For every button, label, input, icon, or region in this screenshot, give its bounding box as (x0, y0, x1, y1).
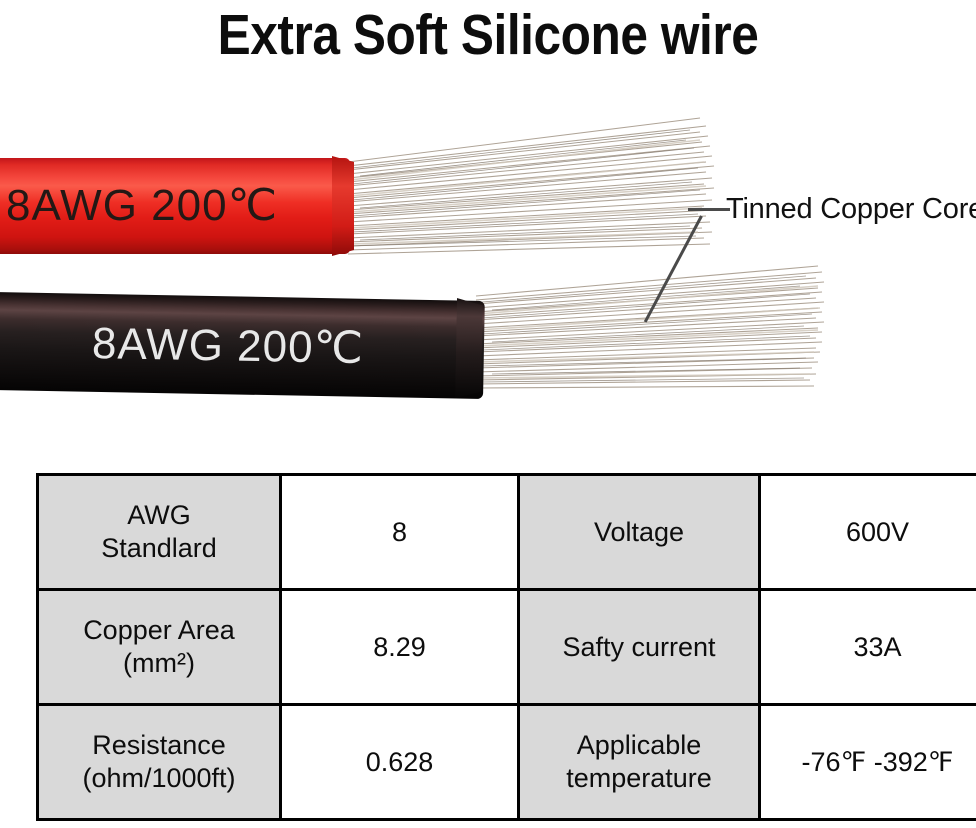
spec-key-applicable-temperature: Applicable temperature (519, 705, 760, 820)
red-wire-print-label: 8AWG 200℃ (6, 180, 278, 232)
table-row: Resistance (ohm/1000ft) 0.628 Applicable… (38, 705, 976, 820)
spec-value-safety-current: 33A (760, 590, 976, 705)
callout-label-tinned-copper-core: Tinned Copper Core (726, 192, 976, 226)
spec-value-applicable-temperature: -76℉ -392℉ (760, 705, 976, 820)
spec-value-awg-standard: 8 (281, 475, 519, 590)
spec-value-copper-area: 8.29 (281, 590, 519, 705)
black-wire-print-label: 8AWG 200℃ (92, 318, 365, 375)
product-photo: 8AWG 200℃ 8AWG 200℃ Tinned Copper Core (0, 96, 976, 448)
product-infographic: Extra Soft Silicone wire (0, 0, 976, 828)
spec-key-voltage: Voltage (519, 475, 760, 590)
specification-table: AWG Standlard 8 Voltage 600V Copper Area… (36, 473, 976, 821)
spec-value-resistance: 0.628 (281, 705, 519, 820)
spec-key-copper-area: Copper Area (mm²) (38, 590, 281, 705)
spec-key-awg-standard: AWG Standlard (38, 475, 281, 590)
table-row: Copper Area (mm²) 8.29 Safty current 33A (38, 590, 976, 705)
page-title: Extra Soft Silicone wire (63, 2, 912, 68)
red-wire-cut-end (332, 156, 354, 256)
tinned-copper-strands-lower (0, 96, 976, 448)
spec-value-voltage: 600V (760, 475, 976, 590)
table-row: AWG Standlard 8 Voltage 600V (38, 475, 976, 590)
black-wire-cut-end (455, 298, 483, 398)
spec-key-resistance: Resistance (ohm/1000ft) (38, 705, 281, 820)
callout-leader-line-upper (688, 208, 730, 211)
spec-key-safety-current: Safty current (519, 590, 760, 705)
